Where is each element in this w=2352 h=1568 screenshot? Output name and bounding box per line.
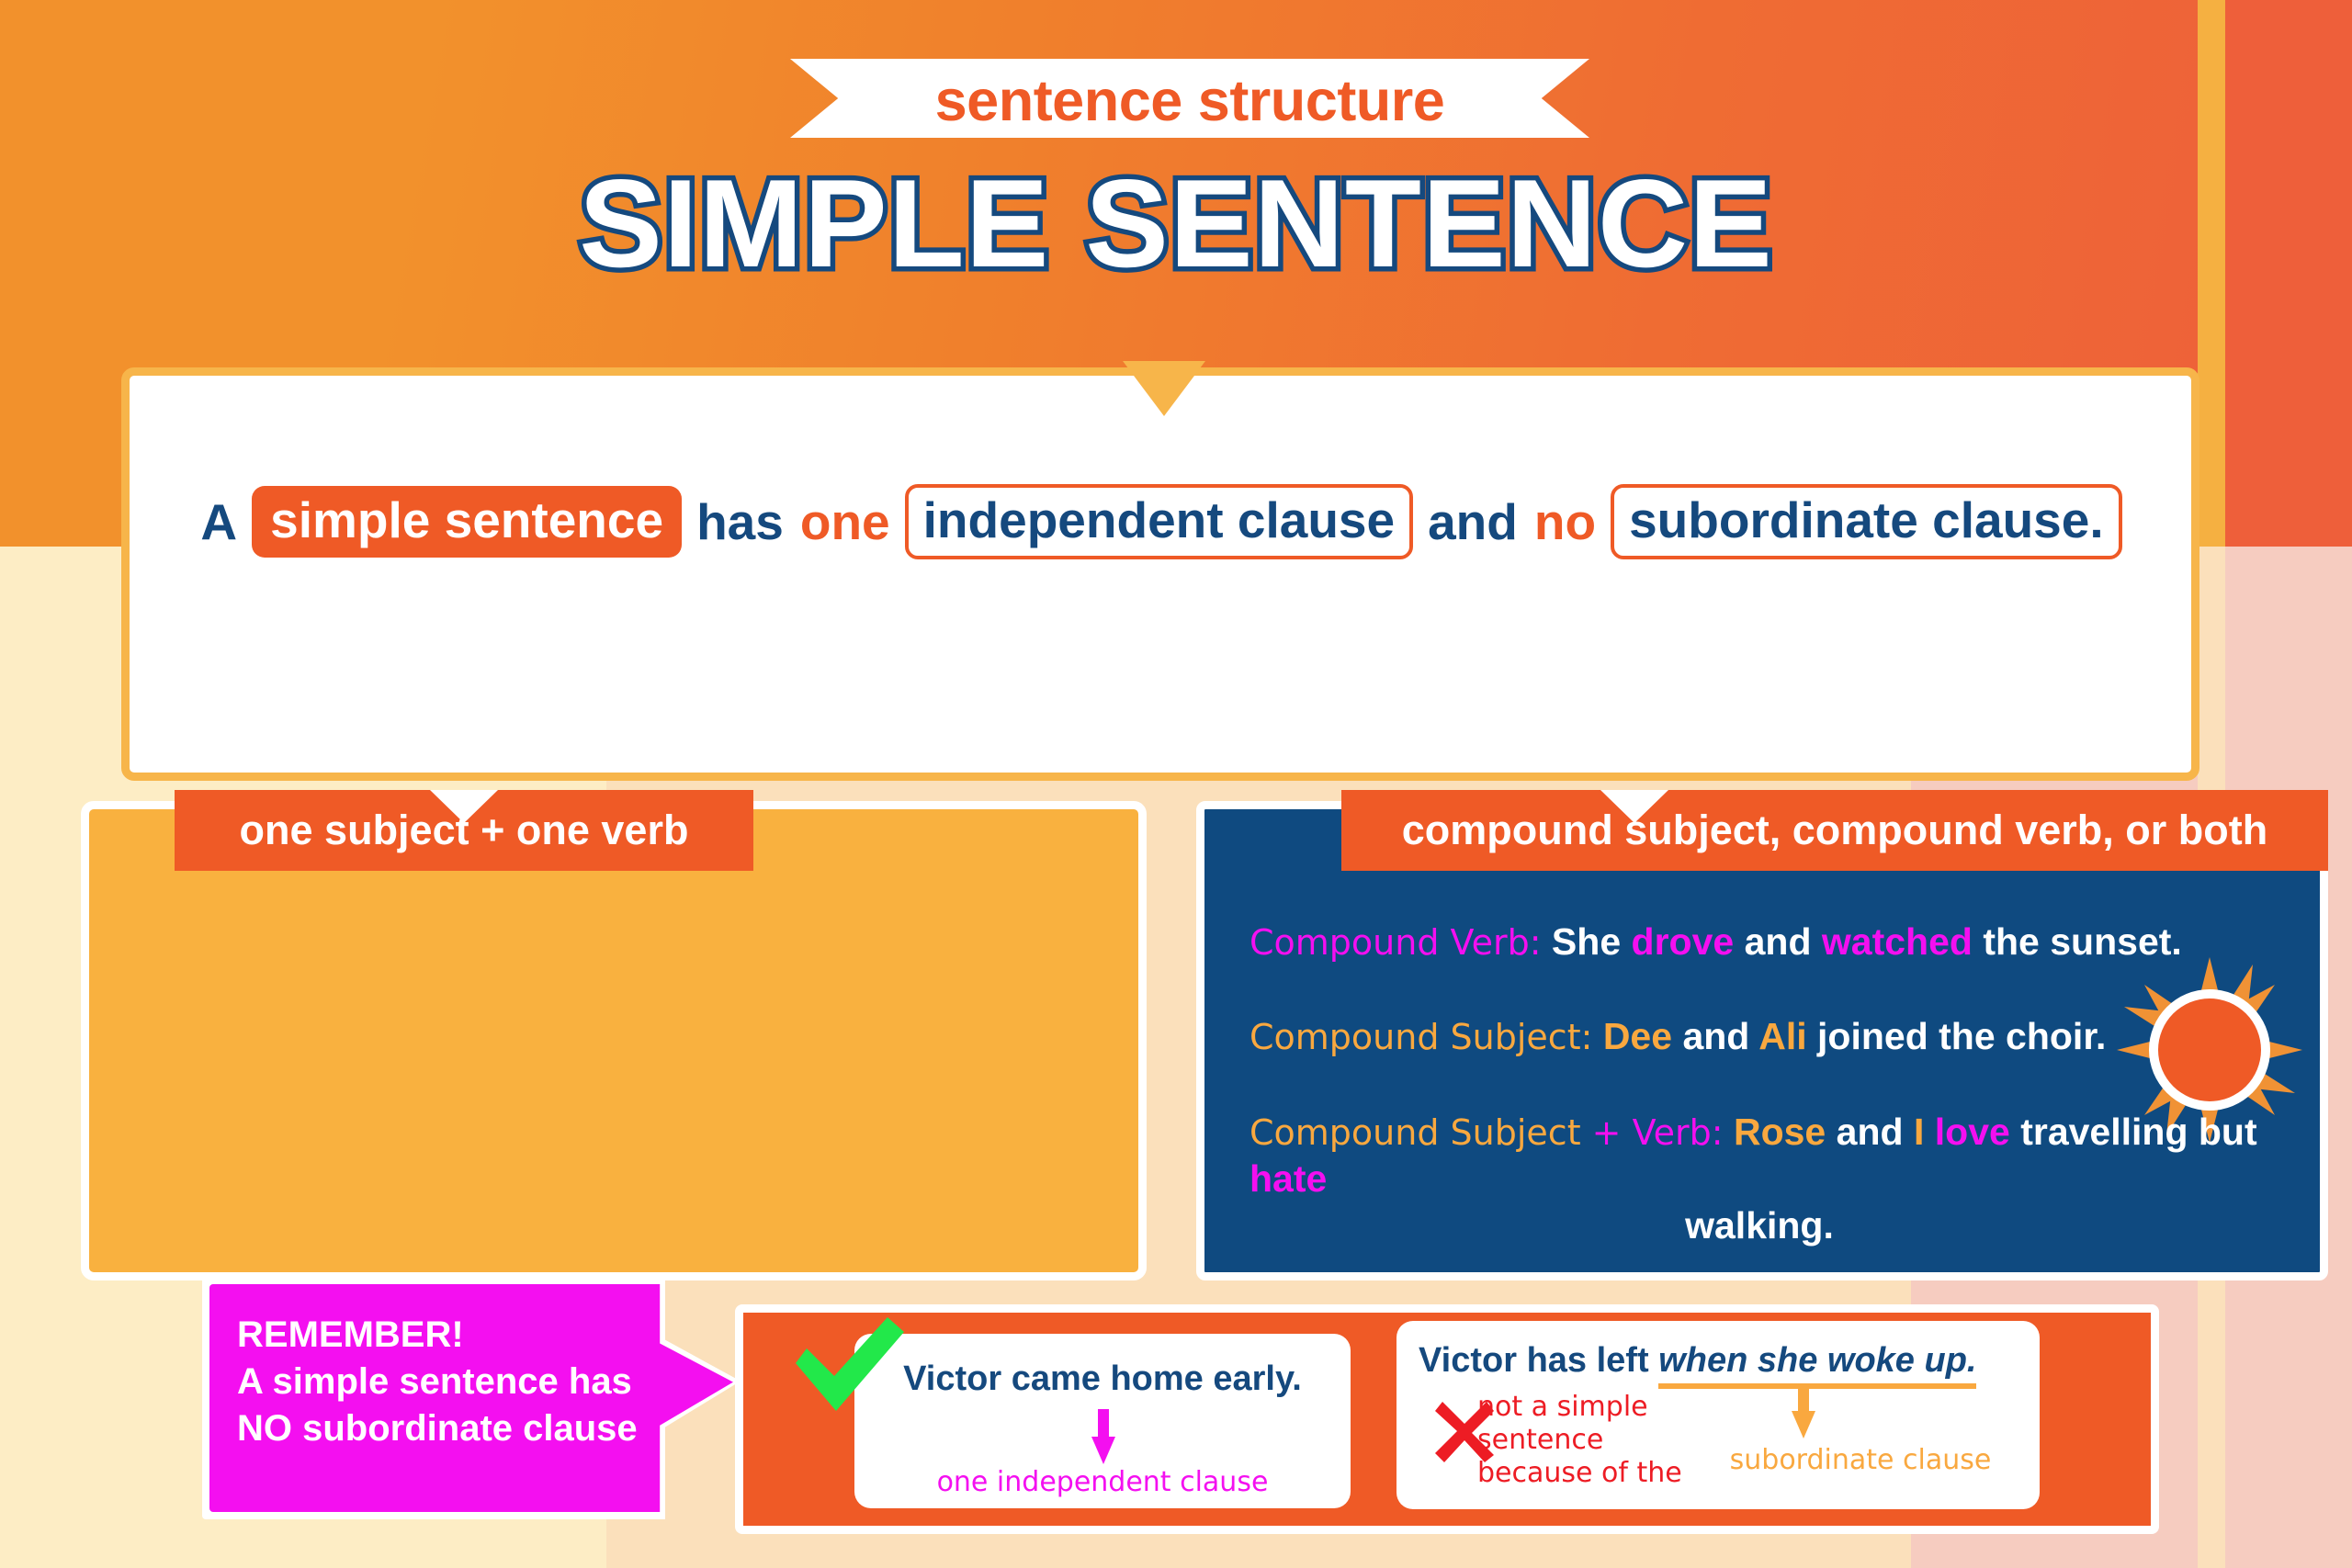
compound-word: the sunset. — [1983, 920, 2181, 963]
compound-row: Compound Subject: Dee and Ali joined the… — [1249, 1013, 2269, 1060]
definition-verb: has — [696, 492, 784, 551]
incorrect-sentence-italic: when she woke up. — [1658, 1341, 1976, 1389]
compound-word: and — [1745, 920, 1812, 963]
term-independent-clause: independent clause — [905, 484, 1413, 559]
down-arrow-amber-icon — [1792, 1383, 1815, 1438]
correct-example-sentence: Victor came home early. — [854, 1359, 1351, 1399]
compound-row-tag-2: + Verb: — [1581, 1112, 1724, 1153]
definition-sentence: A simple sentence has one independent cl… — [130, 484, 2191, 559]
remember-line-2: A simple sentence has — [237, 1359, 641, 1405]
compound-word: hate — [1249, 1157, 1327, 1200]
definition-conjunction: and — [1428, 492, 1518, 551]
down-arrow-pink-icon — [1091, 1409, 1115, 1464]
definition-qty-no: no — [1534, 492, 1596, 551]
definition-qty-one: one — [800, 492, 890, 551]
compound-word: watched — [1822, 920, 1973, 963]
remember-callout: REMEMBER! A simple sentence has NO subor… — [209, 1284, 733, 1512]
one-subject-one-verb-panel — [81, 801, 1147, 1280]
compound-word: drove — [1632, 920, 1735, 963]
compound-word: Rose — [1734, 1111, 1826, 1153]
compound-word: Dee — [1603, 1015, 1672, 1057]
remember-line-1: REMEMBER! — [237, 1312, 641, 1359]
compound-row-tag: Compound Subject — [1249, 1112, 1581, 1153]
correct-example-label: one independent clause — [854, 1466, 1351, 1499]
definition-prefix: A — [200, 492, 237, 551]
compound-word: Ali — [1758, 1015, 1806, 1057]
subordinate-clause-label: subordinate clause — [1709, 1444, 2012, 1477]
compound-row-tag: Compound Subject: — [1249, 1017, 1592, 1057]
ribbon-label: sentence structure — [735, 44, 1645, 152]
definition-card: A simple sentence has one independent cl… — [121, 367, 2199, 781]
red-x-icon — [1433, 1400, 1496, 1462]
compound-examples-list: Compound Verb: She drove and watched the… — [1249, 919, 2269, 1297]
compound-word: love — [1935, 1111, 2010, 1153]
compound-word: She — [1552, 920, 1621, 963]
incorrect-sentence-plain: Victor has left — [1419, 1341, 1658, 1380]
right-panel-header: compound subject, compound verb, or both — [1341, 790, 2328, 871]
remember-text: REMEMBER! A simple sentence has NO subor… — [237, 1312, 641, 1453]
compound-row: Compound Subject + Verb: Rose and I love… — [1249, 1109, 2269, 1250]
compound-word: joined the choir. — [1817, 1015, 2106, 1057]
compound-word: travelling but — [2020, 1111, 2256, 1153]
compound-row-second-line: walking. — [1249, 1202, 2269, 1249]
compound-word: I — [1914, 1111, 1924, 1153]
ribbon-banner: sentence structure — [735, 44, 1645, 152]
term-simple-sentence: simple sentence — [252, 486, 682, 558]
compound-row: Compound Verb: She drove and watched the… — [1249, 919, 2269, 965]
compound-word: and — [1837, 1111, 1904, 1153]
correct-example-card: Victor came home early. one independent … — [854, 1334, 1351, 1508]
compound-row-tag: Compound Verb: — [1249, 922, 1542, 963]
page-title: SIMPLE SENTENCE — [0, 161, 2352, 286]
green-check-icon — [792, 1315, 907, 1416]
incorrect-example-sentence: Victor has left when she woke up. — [1419, 1341, 1976, 1381]
remember-line-3: NO subordinate clause — [237, 1405, 641, 1452]
term-subordinate-clause: subordinate clause. — [1611, 484, 2122, 559]
compound-word: and — [1682, 1015, 1749, 1057]
